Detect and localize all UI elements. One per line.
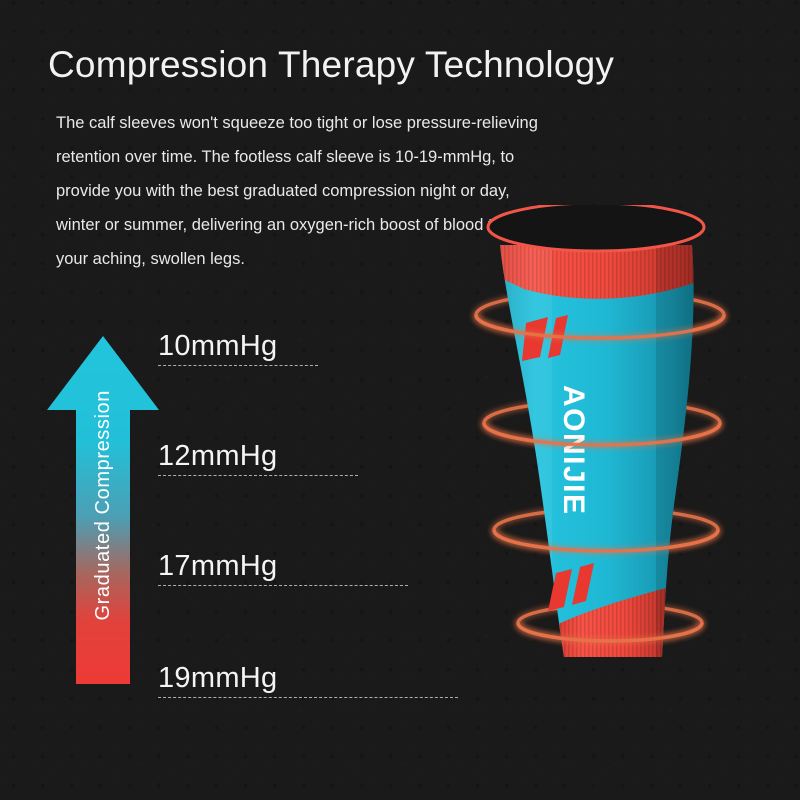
- calf-sleeve-product-image: AONIJIE: [460, 205, 780, 705]
- pressure-value: 19mmHg: [158, 662, 458, 695]
- pressure-reading-17: 17mmHg: [158, 550, 408, 586]
- pressure-value: 17mmHg: [158, 550, 408, 583]
- pressure-value: 12mmHg: [158, 440, 358, 473]
- page-title: Compression Therapy Technology: [48, 44, 614, 86]
- graduated-compression-arrow: Graduated Compression: [44, 332, 162, 688]
- pressure-rule: [158, 365, 318, 366]
- pressure-rule: [158, 585, 408, 586]
- arrow-up-icon: [44, 332, 162, 688]
- infographic-canvas: Compression Therapy Technology The calf …: [0, 0, 800, 800]
- pressure-reading-12: 12mmHg: [158, 440, 358, 476]
- description-line: provide you with the best graduated comp…: [56, 174, 616, 208]
- description-line: The calf sleeves won't squeeze too tight…: [56, 106, 616, 140]
- pressure-value: 10mmHg: [158, 330, 318, 363]
- pressure-rule: [158, 475, 358, 476]
- pressure-reading-19: 19mmHg: [158, 662, 458, 698]
- pressure-reading-10: 10mmHg: [158, 330, 318, 366]
- brand-wordmark: AONIJIE: [557, 385, 590, 516]
- description-line: retention over time. The footless calf s…: [56, 140, 616, 174]
- pressure-rule: [158, 697, 458, 698]
